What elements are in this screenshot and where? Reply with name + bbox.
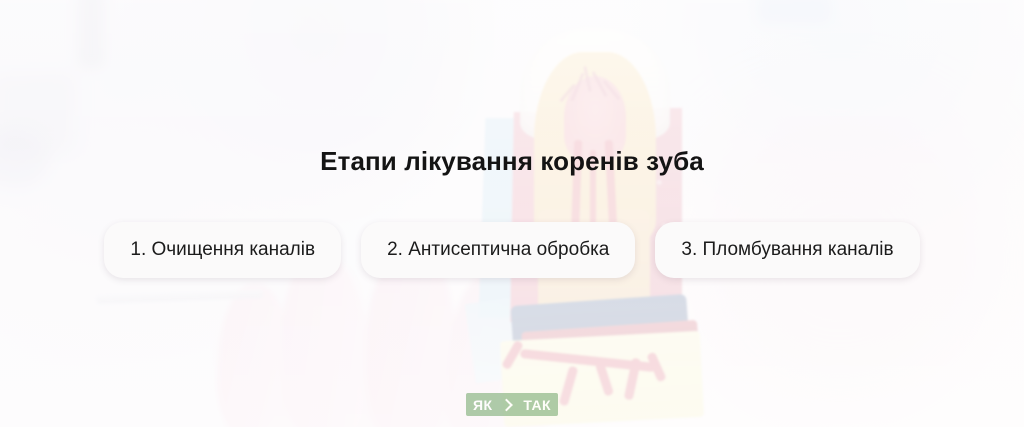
poster-content: Етапи лікування коренів зуба 1. Очищення…: [0, 0, 1024, 427]
watermark-right-text: ТАК: [516, 393, 558, 416]
step-pill-1[interactable]: 1. Очищення каналів: [104, 222, 341, 278]
watermark-left-text: ЯК: [466, 393, 499, 416]
step-pill-2[interactable]: 2. Антисептична обробка: [361, 222, 635, 278]
step-pill-3[interactable]: 3. Пломбування каналів: [655, 222, 919, 278]
page-title: Етапи лікування коренів зуба: [0, 146, 1024, 177]
watermark-logo: ЯК ТАК: [466, 393, 558, 416]
chevron-right-icon: [499, 393, 516, 416]
poster-canvas: Етапи лікування коренів зуба 1. Очищення…: [0, 0, 1024, 427]
steps-row: 1. Очищення каналів 2. Антисептична обро…: [0, 222, 1024, 278]
